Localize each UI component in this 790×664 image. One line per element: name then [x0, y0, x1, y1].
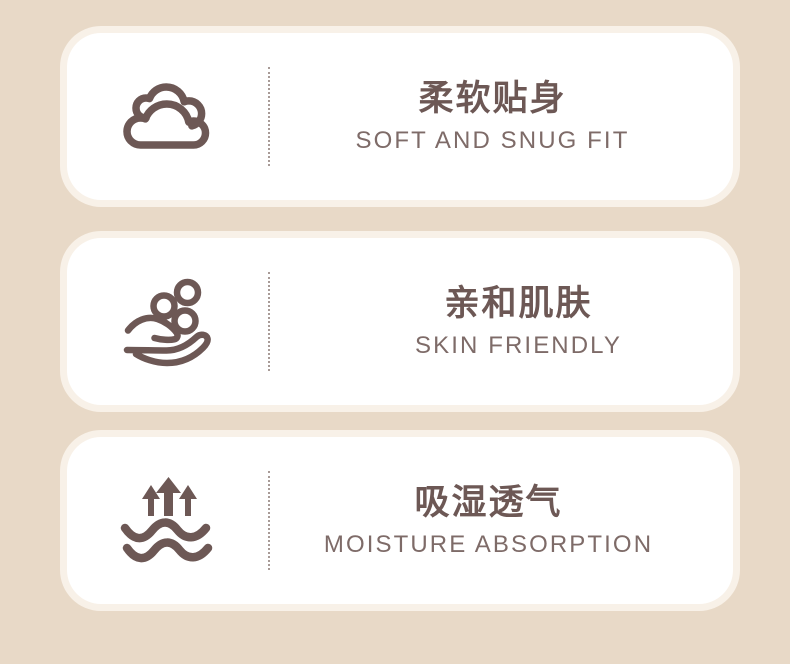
card-icon-area [67, 238, 268, 405]
card-text-area: 吸湿透气 MOISTURE ABSORPTION [270, 437, 733, 604]
card-title-cn: 吸湿透气 [414, 482, 562, 525]
card-divider [268, 67, 270, 166]
card-title-en: SKIN FRIENDLY [415, 333, 622, 360]
card-text-area: 柔软贴身 SOFT AND SNUG FIT [270, 33, 733, 200]
feature-card[interactable]: 吸湿透气 MOISTURE ABSORPTION [67, 437, 733, 604]
card-icon-area [67, 437, 268, 604]
card-divider [268, 471, 270, 570]
feature-card[interactable]: 柔软贴身 SOFT AND SNUG FIT [67, 33, 733, 200]
moisture-waves-icon [116, 475, 220, 567]
feature-panel: 柔软贴身 SOFT AND SNUG FIT [0, 0, 790, 664]
feature-card-list: 柔软贴身 SOFT AND SNUG FIT [0, 0, 790, 664]
card-title-en: MOISTURE ABSORPTION [324, 532, 653, 559]
card-text-area: 亲和肌肤 SKIN FRIENDLY [270, 238, 733, 405]
card-title-en: SOFT AND SNUG FIT [356, 128, 630, 155]
cloud-icon [116, 77, 220, 157]
feature-card[interactable]: 亲和肌肤 SKIN FRIENDLY [67, 238, 733, 405]
card-title-cn: 亲和肌肤 [444, 283, 592, 326]
card-title-cn: 柔软贴身 [418, 78, 566, 121]
hand-bubbles-icon [116, 276, 220, 368]
card-icon-area [67, 33, 268, 200]
card-divider [268, 272, 270, 371]
